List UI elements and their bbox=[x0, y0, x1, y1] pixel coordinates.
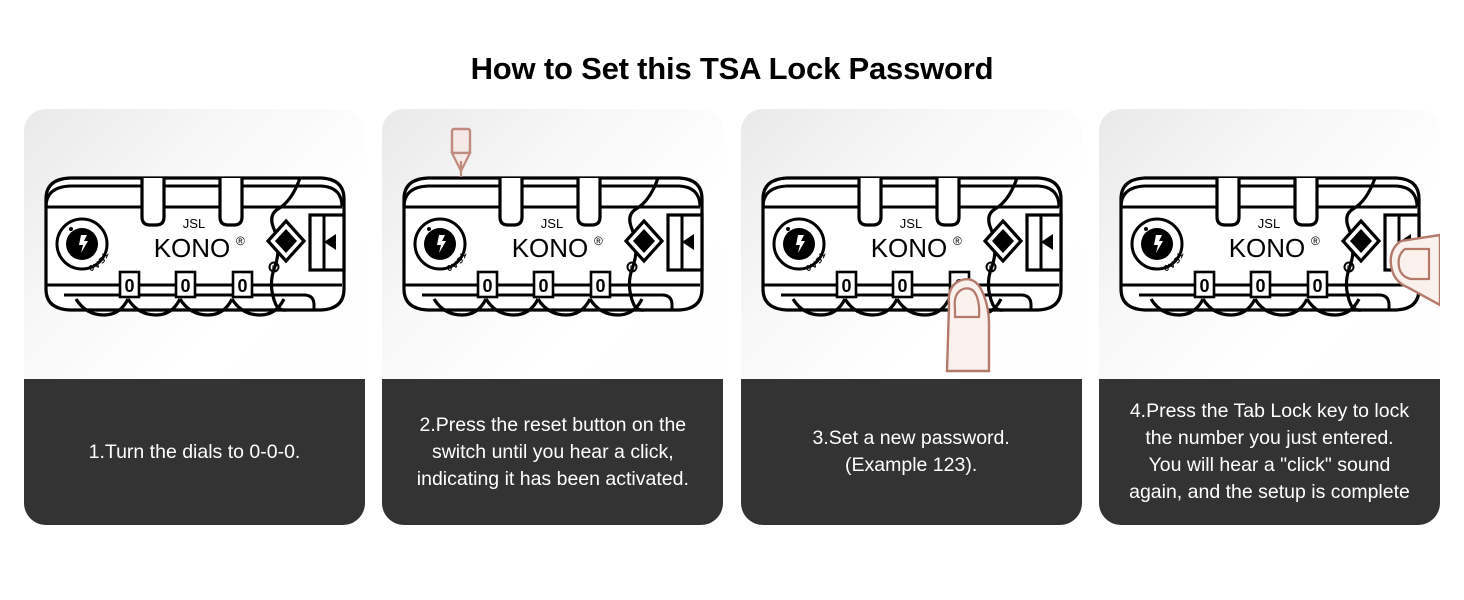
step-caption-text: 2.Press the reset button on the switch u… bbox=[417, 412, 689, 493]
dial-numbers-4: 0 0 0 bbox=[1195, 272, 1327, 297]
pointing-finger-icon bbox=[947, 279, 989, 371]
reset-pen-icon bbox=[452, 129, 470, 177]
svg-text:R: R bbox=[988, 266, 993, 272]
dial-value: 0 bbox=[539, 276, 549, 296]
dial-value: 0 bbox=[841, 276, 851, 296]
tsa-lock-drawing-4: TSA007 JSL KONO ® R bbox=[1099, 109, 1440, 315]
brand-mark-2: ® bbox=[594, 234, 603, 248]
brand-text-2: KONO bbox=[512, 233, 589, 263]
sub-brand-text-2: JSL bbox=[541, 216, 563, 231]
tab-lock-key-3 bbox=[1027, 215, 1061, 270]
dial-value: 0 bbox=[237, 276, 247, 296]
sub-brand-text-4: JSL bbox=[1258, 216, 1280, 231]
step-caption-1: 1.Turn the dials to 0-0-0. bbox=[24, 379, 365, 525]
dial-value: 0 bbox=[1199, 276, 1209, 296]
steps-row: TSA007 JSL KONO ® bbox=[0, 87, 1464, 525]
dial-value: 0 bbox=[1255, 276, 1265, 296]
lock-illustration-4: TSA007 JSL KONO ® R bbox=[1099, 109, 1440, 379]
dial-value: 0 bbox=[596, 276, 606, 296]
lock-illustration-1: TSA007 JSL KONO ® bbox=[24, 109, 365, 379]
tsa-lock-drawing-3: TSA007 JSL KONO ® R bbox=[741, 109, 1061, 371]
step-caption-3: 3.Set a new password. (Example 123). bbox=[741, 379, 1082, 525]
step-caption-text: 4.Press the Tab Lock key to lock the num… bbox=[1129, 398, 1410, 506]
dial-value: 0 bbox=[483, 276, 493, 296]
brand-mark-1: ® bbox=[236, 234, 245, 248]
step-caption-text: 3.Set a new password. (Example 123). bbox=[813, 425, 1010, 479]
step-card-3: TSA007 JSL KONO ® R bbox=[741, 109, 1082, 525]
dial-value: 0 bbox=[1312, 276, 1322, 296]
step-card-1: TSA007 JSL KONO ® bbox=[24, 109, 365, 525]
dial-value: 0 bbox=[897, 276, 907, 296]
brand-mark-4: ® bbox=[1311, 234, 1320, 248]
step-card-4: TSA007 JSL KONO ® R bbox=[1099, 109, 1440, 525]
tab-lock-key-2 bbox=[668, 215, 702, 270]
dial-value: 0 bbox=[124, 276, 134, 296]
svg-text:R: R bbox=[272, 266, 277, 272]
page-title: How to Set this TSA Lock Password bbox=[0, 0, 1464, 87]
brand-text-1: KONO bbox=[154, 233, 231, 263]
dial-numbers-2: 0 0 0 bbox=[478, 272, 610, 297]
tsa-lock-drawing-2: TSA007 JSL KONO ® R bbox=[382, 109, 702, 315]
sub-brand-text-1: JSL bbox=[183, 216, 205, 231]
step-caption-2: 2.Press the reset button on the switch u… bbox=[382, 379, 723, 525]
lock-illustration-2: TSA007 JSL KONO ® R bbox=[382, 109, 723, 379]
step-caption-text: 1.Turn the dials to 0-0-0. bbox=[89, 439, 301, 466]
lock-illustration-3: TSA007 JSL KONO ® R bbox=[741, 109, 1082, 379]
dial-numbers-1: 0 0 0 bbox=[120, 272, 252, 297]
brand-mark-3: ® bbox=[953, 234, 962, 248]
step-card-2: TSA007 JSL KONO ® R bbox=[382, 109, 723, 525]
brand-text-4: KONO bbox=[1229, 233, 1306, 263]
step-caption-4: 4.Press the Tab Lock key to lock the num… bbox=[1099, 379, 1440, 525]
sub-brand-text-3: JSL bbox=[899, 216, 921, 231]
dial-value: 0 bbox=[180, 276, 190, 296]
tsa-lock-drawing-1: TSA007 JSL KONO ® bbox=[24, 109, 344, 315]
svg-text:R: R bbox=[630, 266, 635, 272]
svg-text:R: R bbox=[1347, 266, 1352, 272]
tab-lock-key-1 bbox=[310, 215, 344, 270]
brand-text-3: KONO bbox=[870, 233, 947, 263]
